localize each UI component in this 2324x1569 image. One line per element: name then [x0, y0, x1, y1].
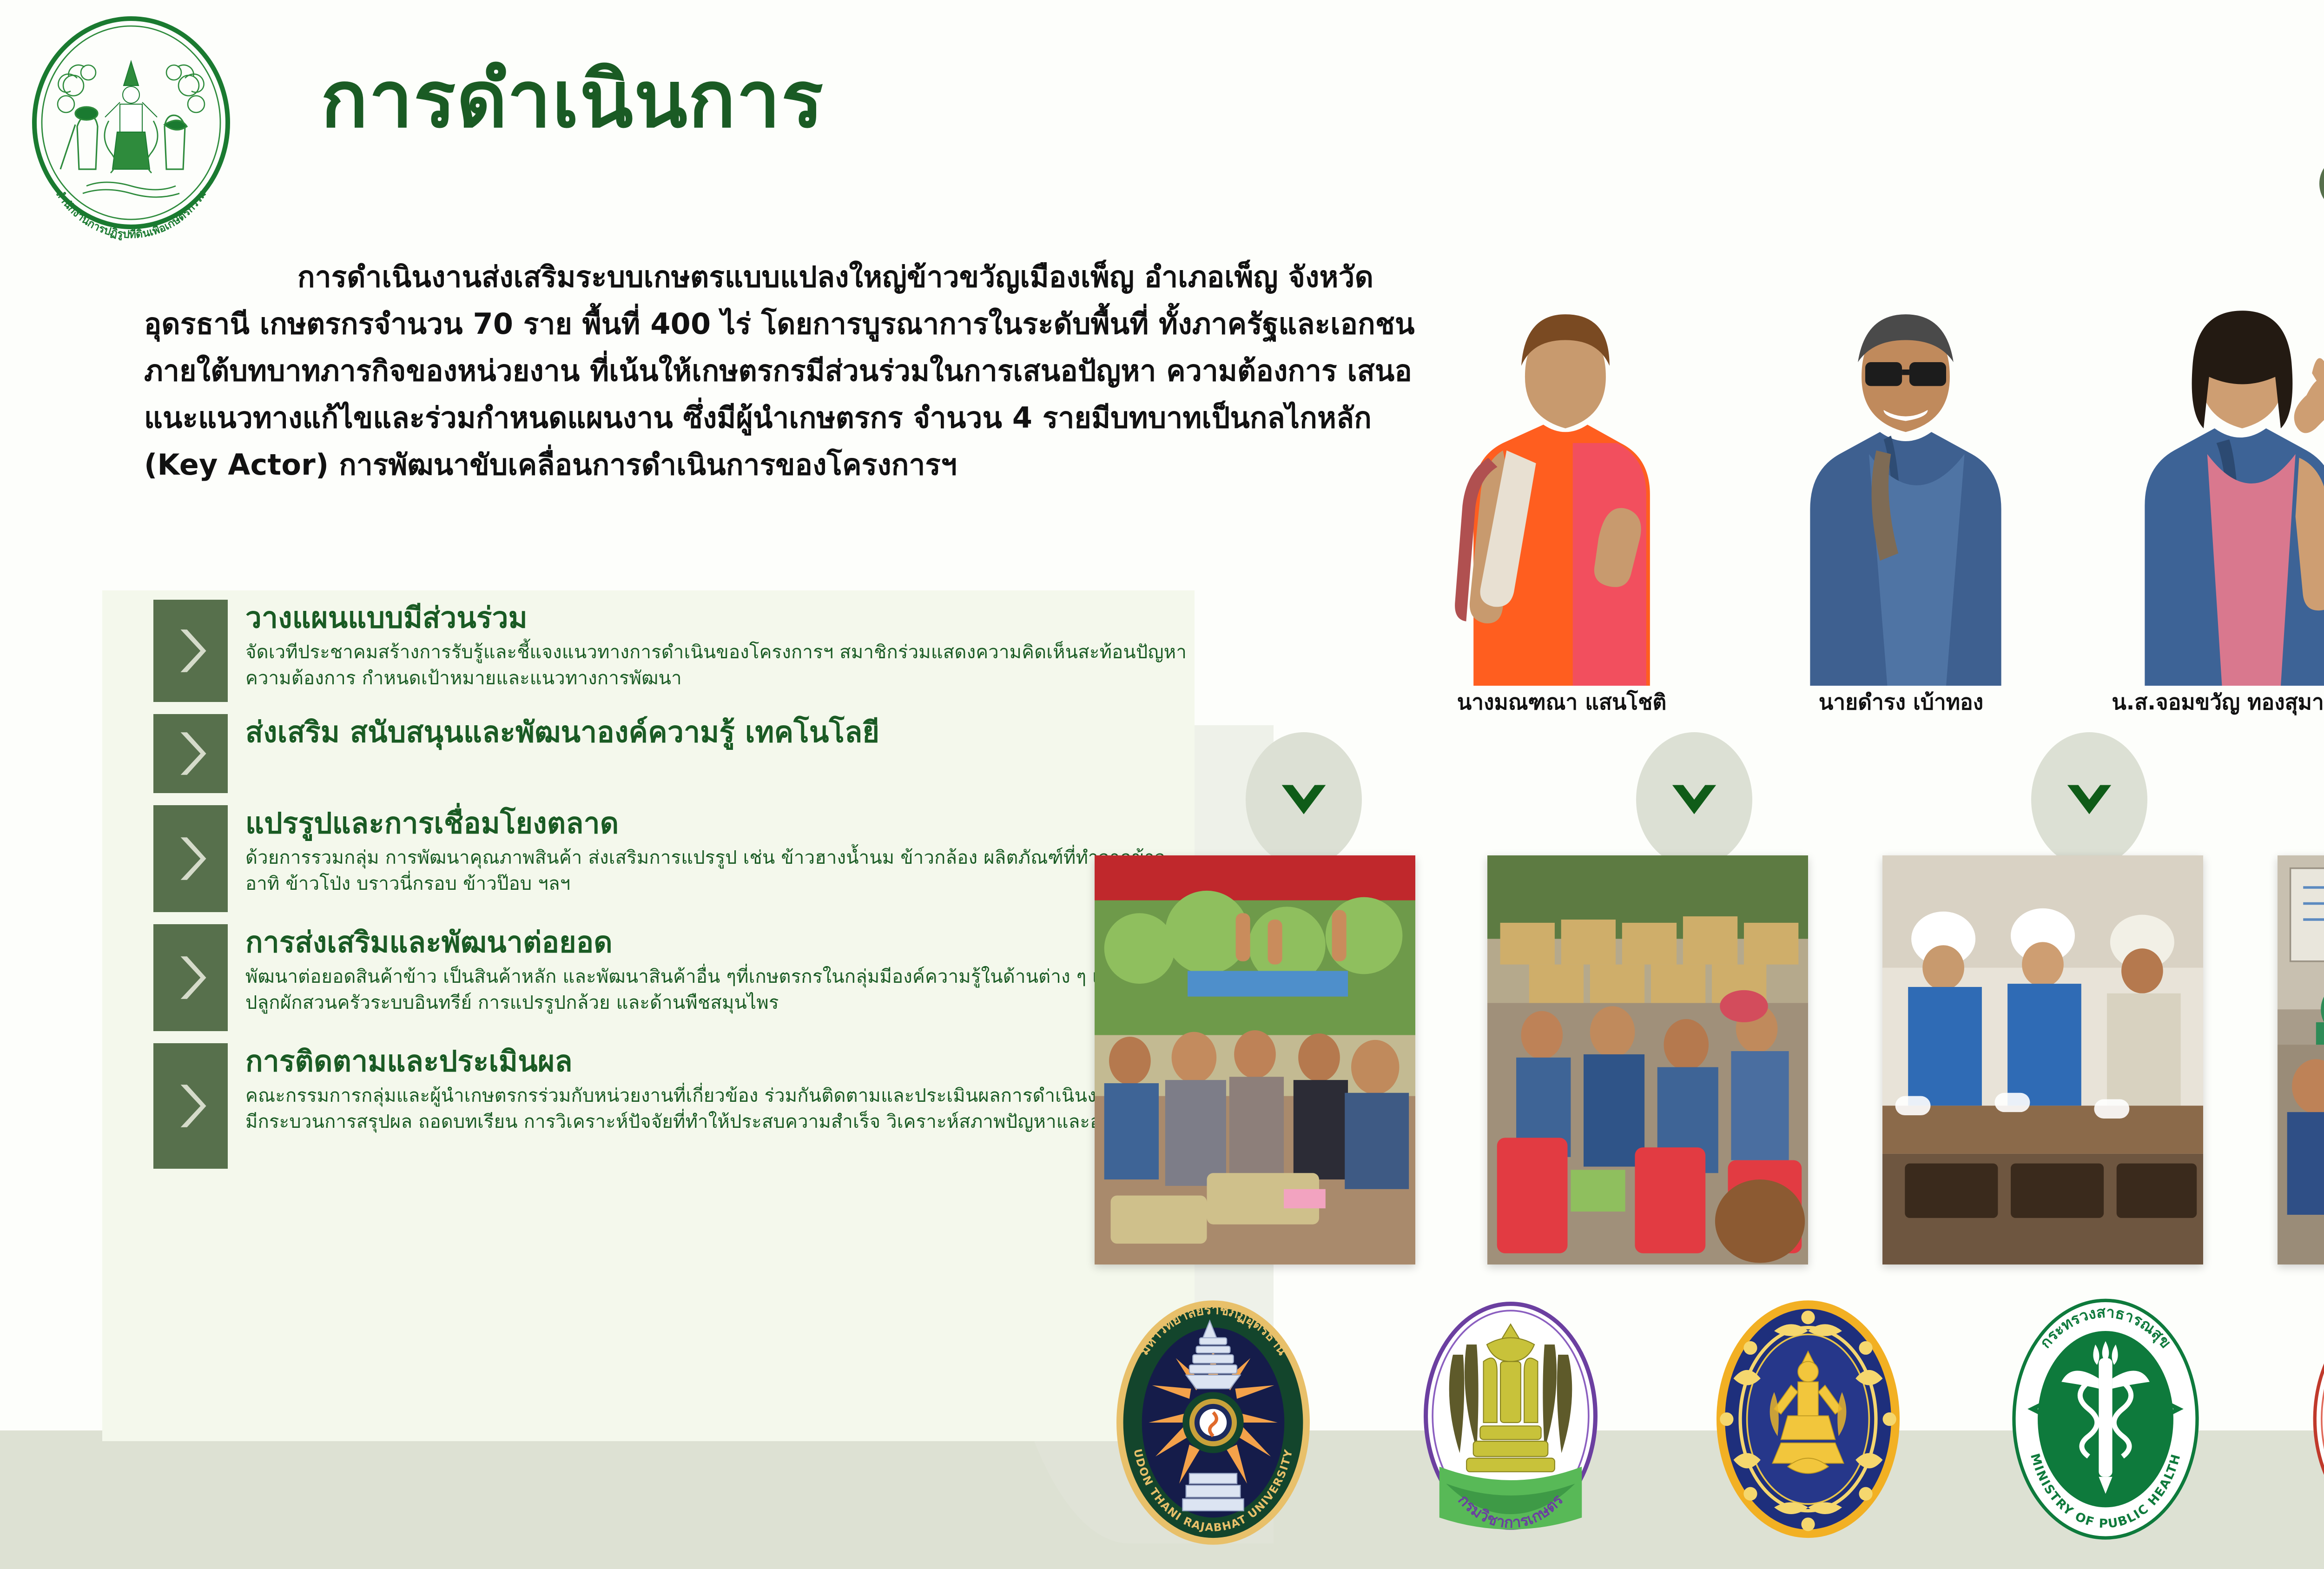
chevron-down-icon	[1274, 774, 1334, 825]
chevron-badge	[1246, 732, 1362, 867]
step-body: จัดเวทีประชาคมสร้างการรับรู้และชี้แจงแนว…	[245, 639, 1190, 692]
chevron-right-icon	[169, 1079, 212, 1133]
avatar	[2092, 281, 2324, 686]
step-tab	[153, 1043, 228, 1169]
avatar	[1413, 281, 1710, 686]
decorative-dots	[2319, 160, 2324, 207]
step-body: พัฒนาต่อยอดสินค้าข้าว เป็นสินค้าหลัก และ…	[245, 964, 1190, 1017]
step-tab	[153, 924, 228, 1031]
presentation-slide: สำนักงานการปฏิรูปที่ดินเพื่อเกษตรกรรม กา…	[0, 0, 2324, 1569]
chevron-right-icon	[169, 624, 212, 678]
seal-local-administration	[1706, 1297, 1910, 1548]
activity-photo	[1882, 855, 2203, 1264]
list-item[interactable]: การส่งเสริมและพัฒนาต่อยอด พัฒนาต่อยอดสิน…	[153, 924, 1190, 1031]
chevron-down-icon	[2060, 774, 2119, 825]
list-item[interactable]: การติดตามและประเมินผล คณะกรรมการกลุ่มและ…	[153, 1043, 1190, 1169]
avatar	[1757, 281, 2054, 686]
page-title: การดำเนินการ	[321, 60, 824, 139]
activity-photo	[1095, 855, 1415, 1264]
step-heading: ส่งเสริม สนับสนุนและพัฒนาองค์ความรู้ เทค…	[245, 716, 1190, 749]
list-item[interactable]: ส่งเสริม สนับสนุนและพัฒนาองค์ความรู้ เทค…	[153, 714, 1190, 793]
chevron-badge	[2031, 732, 2147, 867]
intro-paragraph: การดำเนินงานส่งเสริมระบบเกษตรแบบแปลงใหญ่…	[144, 253, 1427, 488]
list-item[interactable]: วางแผนแบบมีส่วนร่วม จัดเวทีประชาคมสร้างก…	[153, 600, 1190, 702]
svg-text:สำนักงานการปฏิรูปที่ดินเพื่อเก: สำนักงานการปฏิรูปที่ดินเพื่อเกษตรกรรม	[53, 188, 209, 241]
seal-udon-thani-rajabhat-university: มหาวิทยาลัยราชภัฏอุดรธานี UDON THANI RAJ…	[1111, 1297, 1315, 1548]
step-heading: การติดตามและประเมินผล	[245, 1045, 1190, 1078]
key-actor-name: น.ส.จอมขวัญ ทองสุมาตย์	[2068, 690, 2324, 714]
step-tab	[153, 600, 228, 702]
activity-photo	[2278, 855, 2324, 1264]
seal-department-of-agriculture: กรมวิชาการเกษตร	[1408, 1297, 1613, 1548]
chevron-right-icon	[169, 832, 212, 886]
key-actor-name: นางมณฑณา แสนโชติ	[1399, 690, 1724, 714]
seal-ministry-of-public-health: กระทรวงสาธารณสุข MINISTRY OF PUBLIC HEAL…	[2003, 1297, 2208, 1548]
dot-1	[2319, 160, 2324, 207]
chevron-down-icon	[1664, 774, 1724, 825]
step-body: ด้วยการรวมกลุ่ม การพัฒนาคุณภาพสินค้า ส่ง…	[245, 845, 1190, 898]
chevron-right-icon	[169, 727, 212, 781]
step-heading: วางแผนแบบมีส่วนร่วม	[245, 602, 1190, 635]
steps-list: วางแผนแบบมีส่วนร่วม จัดเวทีประชาคมสร้างก…	[153, 600, 1190, 1181]
activity-photo	[1487, 855, 1808, 1264]
alro-caption: สำนักงานการปฏิรูปที่ดินเพื่อเกษตรกรรม	[53, 188, 209, 241]
alro-seal-logo: สำนักงานการปฏิรูปที่ดินเพื่อเกษตรกรรม	[20, 13, 243, 245]
key-actor-name: นายดำรง เบ้าทอง	[1738, 690, 2064, 714]
chevron-badge	[1636, 732, 1752, 867]
step-body: คณะกรรมการกลุ่มและผู้นำเกษตรกรร่วมกับหน่…	[245, 1083, 1190, 1136]
seal-land-development-department	[2301, 1297, 2324, 1548]
step-heading: แปรรูปและการเชื่อมโยงตลาด	[245, 807, 1190, 840]
step-tab	[153, 714, 228, 793]
key-actor-portraits: นางมณฑณา แสนโชติ นายดำรง เบ้าทอง	[1413, 281, 2324, 737]
partner-seals-row: มหาวิทยาลัยราชภัฏอุดรธานี UDON THANI RAJ…	[1111, 1297, 2324, 1557]
step-tab	[153, 805, 228, 912]
chevron-right-icon	[169, 951, 212, 1005]
step-heading: การส่งเสริมและพัฒนาต่อยอด	[245, 926, 1190, 959]
list-item[interactable]: แปรรูปและการเชื่อมโยงตลาด ด้วยการรวมกลุ่…	[153, 805, 1190, 912]
